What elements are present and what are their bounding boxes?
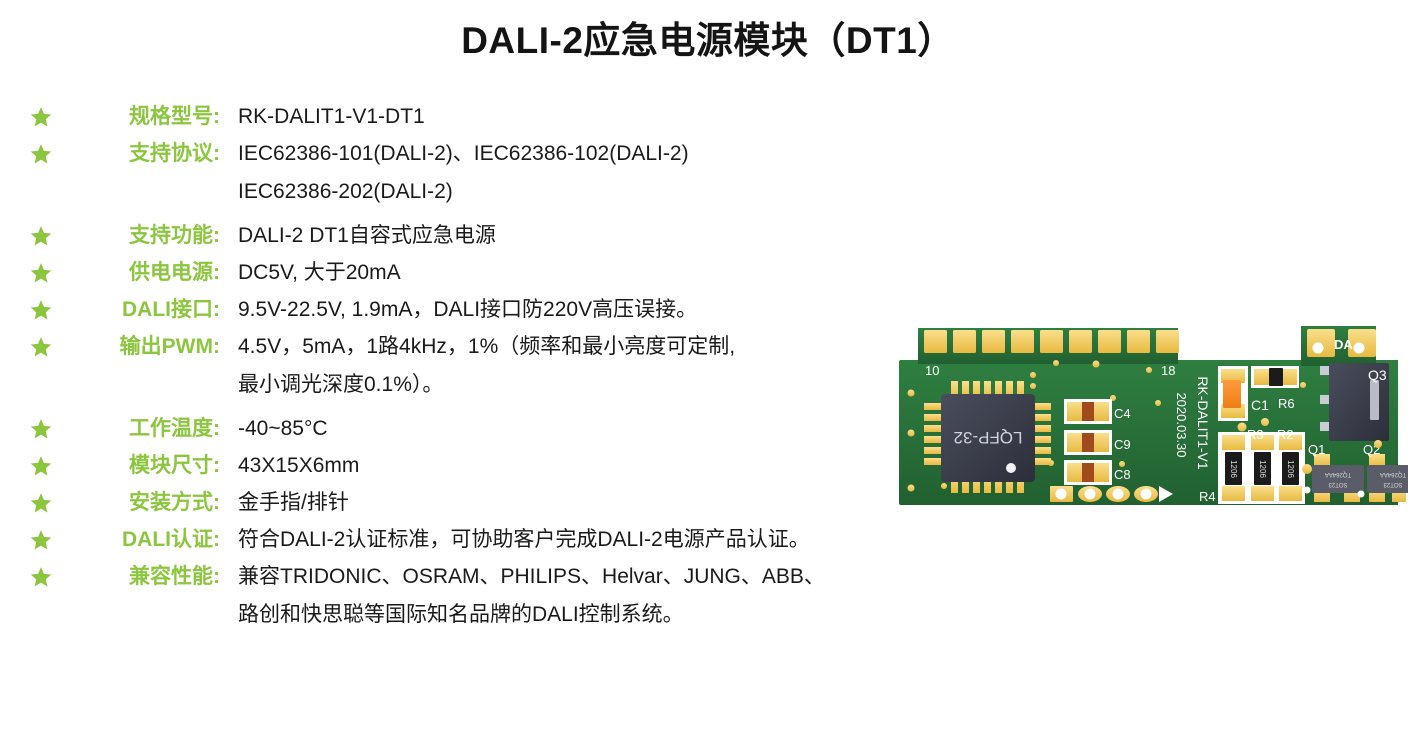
star-cell: [30, 223, 72, 247]
spec-value: -40~85°C: [222, 416, 990, 442]
star-icon: [30, 299, 52, 321]
pcb-illustration: DA 10 18 LQFP-32: [893, 308, 1408, 523]
resistor-code: 1206: [1286, 460, 1295, 478]
spec-row-dimensions: 模块尺寸: 43X15X6mm: [30, 453, 990, 479]
star-icon: [30, 262, 52, 284]
spec-label: 支持协议:: [72, 141, 222, 167]
star-cell: [30, 297, 72, 321]
lqfp32-chip: LQFP-32: [924, 381, 1051, 493]
spec-row-certification: DALI认证: 符合DALI-2认证标准，可协助客户完成DALI-2电源产品认证…: [30, 527, 990, 553]
spec-value-line1: 9.5V-22.5V, 1.9mA，DALI接口防220V高压误接。: [238, 298, 697, 321]
spec-value-line1: IEC62386-101(DALI-2)、IEC62386-102(DALI-2…: [238, 142, 689, 165]
spec-label: 安装方式:: [72, 490, 222, 516]
test-pads: [1050, 486, 1173, 502]
star-cell: [30, 260, 72, 284]
transistor-code: SOT23: [1328, 481, 1348, 487]
spec-value-line1: RK-DALIT1-V1-DT1: [238, 105, 425, 128]
page-title: DALI-2应急电源模块（DT1）: [0, 0, 1416, 64]
spec-list: 规格型号: RK-DALIT1-V1-DT1 支持协议: IEC62386-10…: [30, 104, 990, 639]
spec-value-line2: 路创和快思聪等国际知名品牌的DALI控制系统。: [238, 602, 990, 628]
spec-value-line1: 4.5V，5mA，1路4kHz，1%（频率和最小亮度可定制,: [238, 335, 735, 358]
designator-r6: R6: [1278, 396, 1295, 411]
spec-row-protocol: 支持协议: IEC62386-101(DALI-2)、IEC62386-102(…: [30, 141, 990, 205]
spec-row-model: 规格型号: RK-DALIT1-V1-DT1: [30, 104, 990, 130]
spec-row-pwm-output: 输出PWM: 4.5V，5mA，1路4kHz，1%（频率和最小亮度可定制, 最小…: [30, 334, 990, 398]
spec-value-line1: 金手指/排针: [238, 491, 349, 514]
transistor-code: TQ264AA: [1380, 471, 1406, 477]
designator-r3: R3: [1247, 427, 1264, 442]
star-icon: [30, 418, 52, 440]
resistor-code: 1206: [1258, 460, 1267, 478]
spec-label: 输出PWM:: [72, 334, 222, 360]
spec-label: 支持功能:: [72, 223, 222, 249]
designator-c4: C4: [1114, 406, 1131, 421]
star-icon: [30, 143, 52, 165]
spec-value: IEC62386-101(DALI-2)、IEC62386-102(DALI-2…: [222, 141, 990, 205]
row-spacer: [30, 216, 990, 223]
star-cell: [30, 527, 72, 551]
spec-row-mounting: 安装方式: 金手指/排针: [30, 490, 990, 516]
designator-c8: C8: [1114, 467, 1131, 482]
designator-c9: C9: [1114, 437, 1131, 452]
spec-value-line1: -40~85°C: [238, 417, 328, 440]
star-icon: [30, 455, 52, 477]
spec-label: 工作温度:: [72, 416, 222, 442]
spec-value-line1: 43X15X6mm: [238, 454, 359, 477]
star-cell: [30, 334, 72, 358]
da-label: DA: [1334, 337, 1353, 352]
star-icon: [30, 529, 52, 551]
board-id-label: RK-DALIT1-V1: [1195, 376, 1211, 470]
pin-number-10: 10: [925, 363, 939, 378]
star-icon: [30, 106, 52, 128]
spec-row-compatibility: 兼容性能: 兼容TRIDONIC、OSRAM、PHILIPS、Helvar、JU…: [30, 564, 990, 628]
spec-label: 规格型号:: [72, 104, 222, 130]
star-cell: [30, 564, 72, 588]
designator-q3: Q3: [1368, 367, 1387, 383]
spec-value: 4.5V，5mA，1路4kHz，1%（频率和最小亮度可定制, 最小调光深度0.1…: [222, 334, 990, 398]
resistor-code: 1206: [1229, 460, 1238, 478]
spec-value-line1: DC5V, 大于20mA: [238, 261, 401, 284]
spec-label: 兼容性能:: [72, 564, 222, 590]
chip-label: LQFP-32: [954, 428, 1023, 447]
transistor-code: TQ264AA: [1325, 471, 1351, 477]
spec-value: DALI-2 DT1自容式应急电源: [222, 223, 990, 249]
star-cell: [30, 141, 72, 165]
star-icon: [30, 225, 52, 247]
spec-value: RK-DALIT1-V1-DT1: [222, 104, 990, 130]
spec-label: 供电电源:: [72, 260, 222, 286]
spec-value: 符合DALI-2认证标准，可协助客户完成DALI-2电源产品认证。: [222, 527, 990, 553]
spec-label: 模块尺寸:: [72, 453, 222, 479]
spec-value-line1: 兼容TRIDONIC、OSRAM、PHILIPS、Helvar、JUNG、ABB…: [238, 565, 825, 588]
spec-value: 9.5V-22.5V, 1.9mA，DALI接口防220V高压误接。: [222, 297, 990, 323]
spec-row-temperature: 工作温度: -40~85°C: [30, 416, 990, 442]
star-cell: [30, 104, 72, 128]
designator-r4: R4: [1199, 489, 1216, 504]
board-date-label: 2020.03.30: [1174, 392, 1189, 457]
spec-value-line1: 符合DALI-2认证标准，可协助客户完成DALI-2电源产品认证。: [238, 528, 810, 551]
spec-label: DALI接口:: [72, 297, 222, 323]
pcb-board-image: DA 10 18 LQFP-32: [893, 308, 1408, 523]
spec-value-line2: 最小调光深度0.1%）。: [238, 372, 990, 398]
designator-c1: C1: [1251, 397, 1269, 413]
designator-r2: R2: [1277, 427, 1294, 442]
star-cell: [30, 490, 72, 514]
gold-finger-pads: [924, 330, 1179, 353]
star-icon: [30, 492, 52, 514]
star-icon: [30, 566, 52, 588]
spec-label: DALI认证:: [72, 527, 222, 553]
star-icon: [30, 336, 52, 358]
spec-row-function: 支持功能: DALI-2 DT1自容式应急电源: [30, 223, 990, 249]
designator-q1: Q1: [1308, 442, 1325, 457]
star-cell: [30, 453, 72, 477]
capacitor-group: [1064, 399, 1112, 485]
spec-value: 金手指/排针: [222, 490, 990, 516]
spec-row-power: 供电电源: DC5V, 大于20mA: [30, 260, 990, 286]
transistor-code: SOT23: [1383, 481, 1403, 487]
star-cell: [30, 416, 72, 440]
spec-value: 43X15X6mm: [222, 453, 990, 479]
spec-value: 兼容TRIDONIC、OSRAM、PHILIPS、Helvar、JUNG、ABB…: [222, 564, 990, 628]
spec-value: DC5V, 大于20mA: [222, 260, 990, 286]
spec-value-line2: IEC62386-202(DALI-2): [238, 179, 990, 205]
row-spacer: [30, 409, 990, 416]
pin-number-18: 18: [1161, 363, 1175, 378]
spec-value-line1: DALI-2 DT1自容式应急电源: [238, 224, 496, 247]
spec-row-dali-interface: DALI接口: 9.5V-22.5V, 1.9mA，DALI接口防220V高压误…: [30, 297, 990, 323]
